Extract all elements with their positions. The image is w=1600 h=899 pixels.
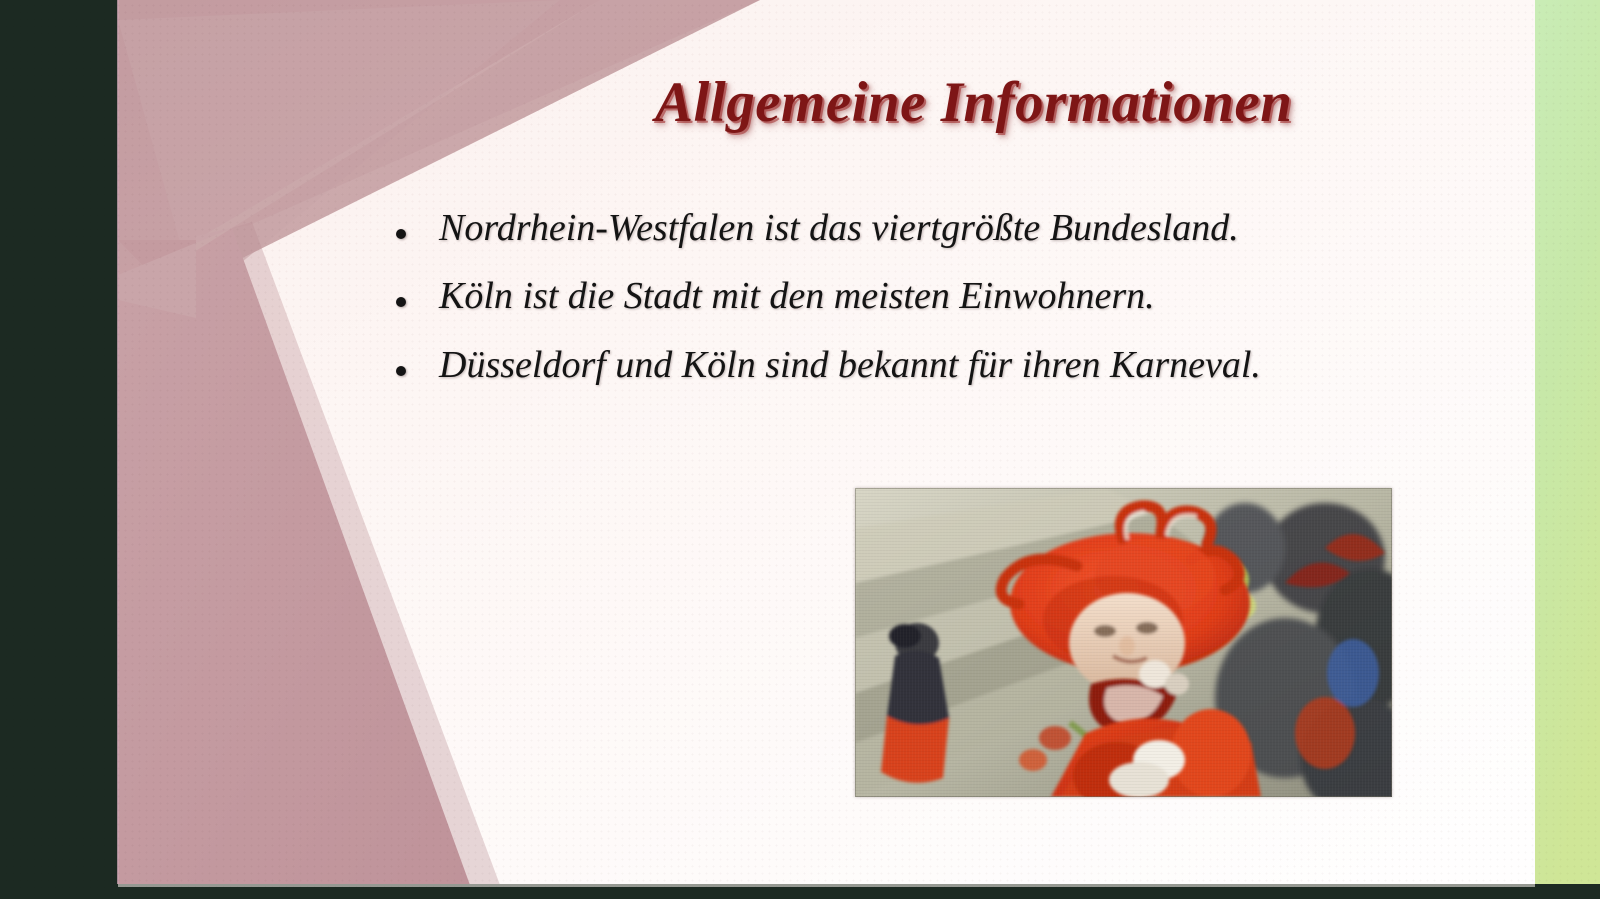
- bullet-text: Düsseldorf und Köln sind bekannt für ihr…: [439, 342, 1261, 388]
- carnival-photo-graphic: [855, 488, 1392, 797]
- left-accent-bar: [0, 0, 118, 899]
- bullet-dot-icon: [396, 297, 406, 307]
- bullet-list: Nordrhein-Westfalen ist das viertgrößte …: [396, 205, 1406, 410]
- list-item: Nordrhein-Westfalen ist das viertgrößte …: [396, 205, 1406, 251]
- list-item: Köln ist die Stadt mit den meisten Einwo…: [396, 273, 1406, 319]
- bullet-dot-icon: [396, 366, 406, 376]
- presentation-slide: Allgemeine Informationen Nordrhein-Westf…: [0, 0, 1600, 899]
- carnival-photo: [855, 488, 1392, 797]
- slide-title: Allgemeine Informationen: [655, 70, 1485, 135]
- list-item: Düsseldorf und Köln sind bekannt für ihr…: [396, 342, 1406, 388]
- bullet-text: Nordrhein-Westfalen ist das viertgrößte …: [439, 205, 1239, 251]
- bullet-text: Köln ist die Stadt mit den meisten Einwo…: [439, 273, 1155, 319]
- bullet-dot-icon: [396, 229, 406, 239]
